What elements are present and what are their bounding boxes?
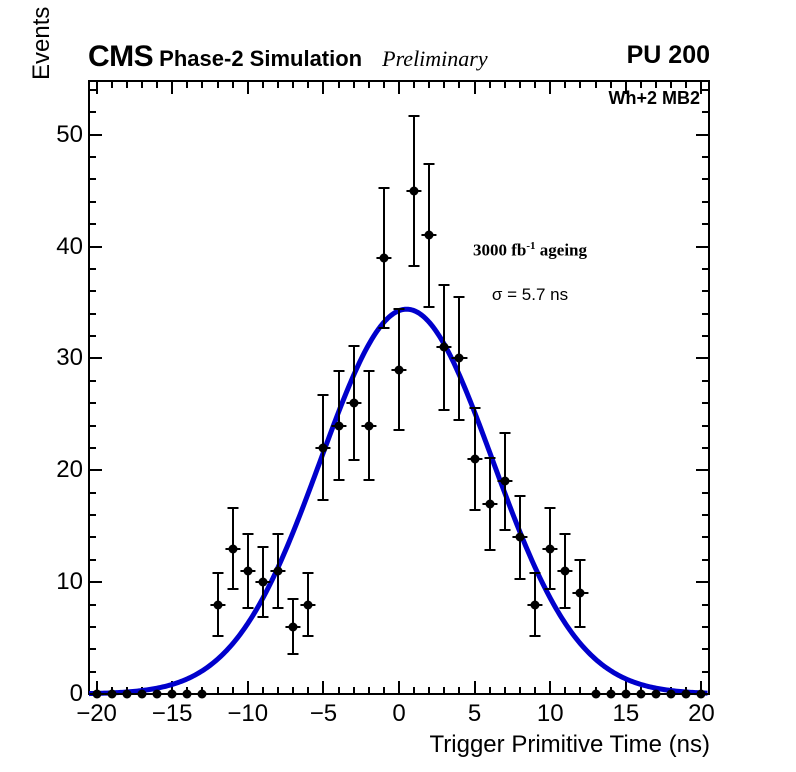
data-point — [606, 690, 615, 699]
error-cap-top — [378, 187, 389, 189]
error-cap-bottom — [424, 306, 435, 308]
data-point — [243, 566, 252, 575]
error-cap-bottom — [394, 429, 405, 431]
data-point — [546, 544, 555, 553]
error-cap-top — [499, 432, 510, 434]
data-point — [515, 533, 524, 542]
error-cap-top — [273, 533, 284, 535]
data-point — [485, 499, 494, 508]
data-point — [470, 455, 479, 464]
error-cap-bottom — [242, 607, 253, 609]
data-point — [500, 477, 509, 486]
error-cap-top — [530, 572, 541, 574]
data-point — [319, 443, 328, 452]
data-point — [652, 690, 661, 699]
error-cap-bottom — [499, 529, 510, 531]
error-cap-bottom — [273, 607, 284, 609]
error-cap-bottom — [469, 509, 480, 511]
error-cap-top — [394, 308, 405, 310]
error-cap-top — [288, 598, 299, 600]
error-cap-bottom — [560, 607, 571, 609]
error-cap-bottom — [212, 635, 223, 637]
data-point — [425, 231, 434, 240]
error-cap-bottom — [575, 626, 586, 628]
data-point — [304, 600, 313, 609]
data-point — [576, 589, 585, 598]
error-cap-bottom — [318, 499, 329, 501]
error-cap-bottom — [484, 549, 495, 551]
error-cap-bottom — [227, 588, 238, 590]
data-point — [122, 690, 131, 699]
data-point — [531, 600, 540, 609]
data-point — [455, 354, 464, 363]
error-cap-bottom — [439, 409, 450, 411]
data-point — [379, 253, 388, 262]
data-point — [667, 690, 676, 699]
error-cap-top — [409, 115, 420, 117]
data-point — [168, 690, 177, 699]
data-point — [107, 690, 116, 699]
error-cap-bottom — [454, 419, 465, 421]
data-point — [153, 690, 162, 699]
data-point — [289, 622, 298, 631]
data-point — [198, 690, 207, 699]
data-point — [137, 690, 146, 699]
data-point — [636, 690, 645, 699]
error-cap-top — [560, 533, 571, 535]
data-point — [92, 690, 101, 699]
data-point — [274, 566, 283, 575]
data-point — [697, 690, 706, 699]
data-point — [349, 399, 358, 408]
plot-canvas: CMSPhase-2 SimulationPreliminary PU 200 … — [0, 0, 796, 772]
data-point — [410, 186, 419, 195]
error-cap-bottom — [409, 265, 420, 267]
error-cap-bottom — [288, 653, 299, 655]
error-cap-bottom — [348, 459, 359, 461]
error-cap-top — [484, 457, 495, 459]
data-point — [258, 578, 267, 587]
error-cap-top — [242, 533, 253, 535]
error-cap-bottom — [530, 635, 541, 637]
error-cap-top — [439, 284, 450, 286]
data-point — [228, 544, 237, 553]
error-cap-top — [424, 163, 435, 165]
data-point — [682, 690, 691, 699]
data-point — [440, 343, 449, 352]
error-cap-bottom — [363, 479, 374, 481]
data-point — [621, 690, 630, 699]
error-cap-top — [257, 546, 268, 548]
error-cap-bottom — [378, 327, 389, 329]
data-point — [561, 566, 570, 575]
data-point — [591, 690, 600, 699]
error-cap-top — [514, 495, 525, 497]
error-cap-top — [303, 572, 314, 574]
data-point — [183, 690, 192, 699]
data-point — [395, 365, 404, 374]
error-cap-bottom — [333, 479, 344, 481]
error-cap-top — [318, 394, 329, 396]
error-cap-top — [212, 572, 223, 574]
error-cap-top — [545, 507, 556, 509]
error-cap-bottom — [514, 578, 525, 580]
data-point — [334, 421, 343, 430]
error-cap-top — [333, 370, 344, 372]
data-point — [213, 600, 222, 609]
error-cap-bottom — [303, 635, 314, 637]
error-cap-top — [348, 345, 359, 347]
error-cap-bottom — [545, 588, 556, 590]
error-cap-top — [469, 407, 480, 409]
error-cap-top — [227, 507, 238, 509]
data-point — [364, 421, 373, 430]
error-cap-bottom — [257, 616, 268, 618]
error-cap-top — [454, 296, 465, 298]
error-cap-top — [363, 370, 374, 372]
error-cap-top — [575, 559, 586, 561]
